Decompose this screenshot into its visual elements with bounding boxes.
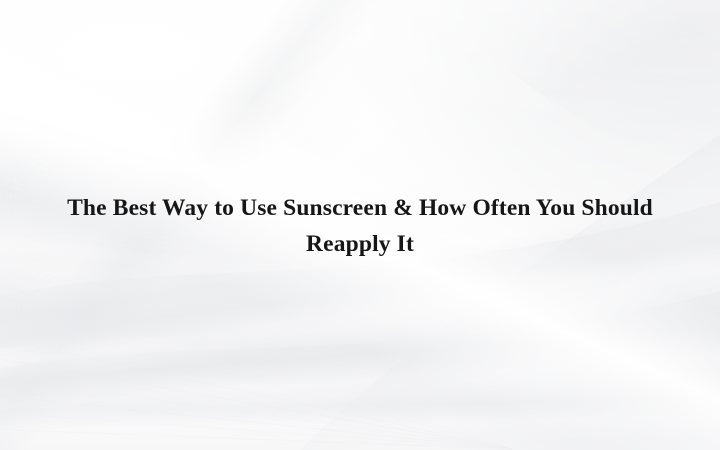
title-slide: The Best Way to Use Sunscreen & How Ofte… <box>0 0 720 450</box>
slide-title: The Best Way to Use Sunscreen & How Ofte… <box>30 190 690 262</box>
headline-container: The Best Way to Use Sunscreen & How Ofte… <box>0 190 720 262</box>
